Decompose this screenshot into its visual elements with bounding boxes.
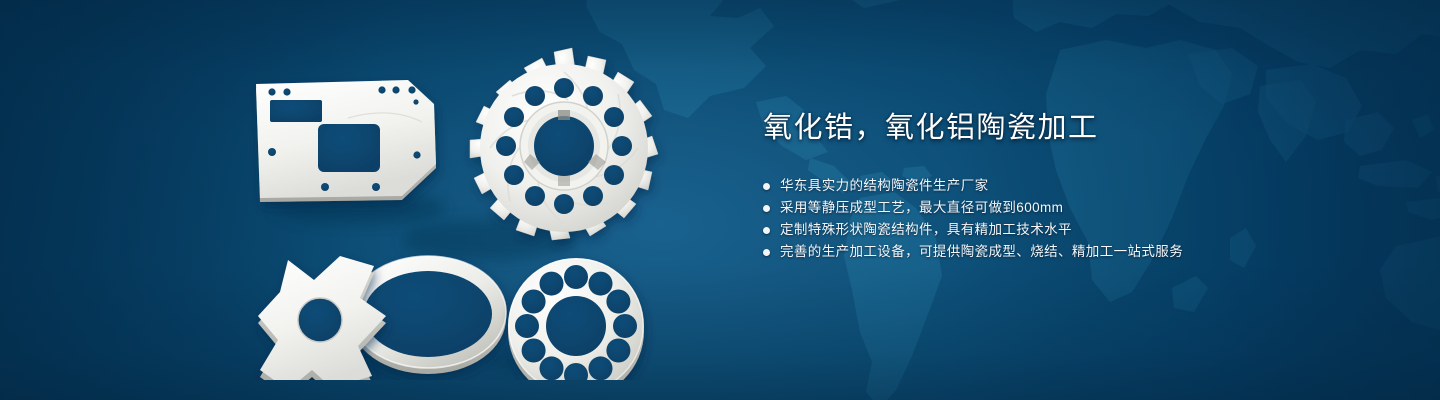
banner-copy: 氧化锆，氧化铝陶瓷加工 华东具实力的结构陶瓷件生产厂家 采用等静压成型工艺，最大… <box>763 108 1383 263</box>
list-item: 完善的生产加工设备，可提供陶瓷成型、烧结、精加工一站式服务 <box>763 241 1383 263</box>
list-item: 华东具实力的结构陶瓷件生产厂家 <box>763 175 1383 197</box>
page-title: 氧化锆，氧化铝陶瓷加工 <box>763 108 1383 148</box>
list-item: 采用等静压成型工艺，最大直径可做到600mm <box>763 197 1383 219</box>
list-item-label: 定制特殊形状陶瓷结构件，具有精加工技术水平 <box>780 219 1072 241</box>
bullet-dot-icon <box>763 183 770 190</box>
list-item: 定制特殊形状陶瓷结构件，具有精加工技术水平 <box>763 219 1383 241</box>
bullet-dot-icon <box>763 227 770 234</box>
ceramic-impeller-rotor <box>470 48 658 240</box>
list-item-label: 华东具实力的结构陶瓷件生产厂家 <box>780 175 989 197</box>
list-item-label: 采用等静压成型工艺，最大直径可做到600mm <box>780 197 1063 219</box>
ceramic-perforated-disc <box>508 258 644 380</box>
list-item-label: 完善的生产加工设备，可提供陶瓷成型、烧结、精加工一站式服务 <box>780 241 1183 263</box>
ceramic-parts-photo <box>230 40 700 380</box>
feature-list: 华东具实力的结构陶瓷件生产厂家 采用等静压成型工艺，最大直径可做到600mm 定… <box>763 175 1383 263</box>
bullet-dot-icon <box>763 249 770 256</box>
product-banner: 氧化锆，氧化铝陶瓷加工 华东具实力的结构陶瓷件生产厂家 采用等静压成型工艺，最大… <box>0 0 1440 400</box>
ceramic-plate-with-cutouts <box>256 80 436 202</box>
bullet-dot-icon <box>763 205 770 212</box>
